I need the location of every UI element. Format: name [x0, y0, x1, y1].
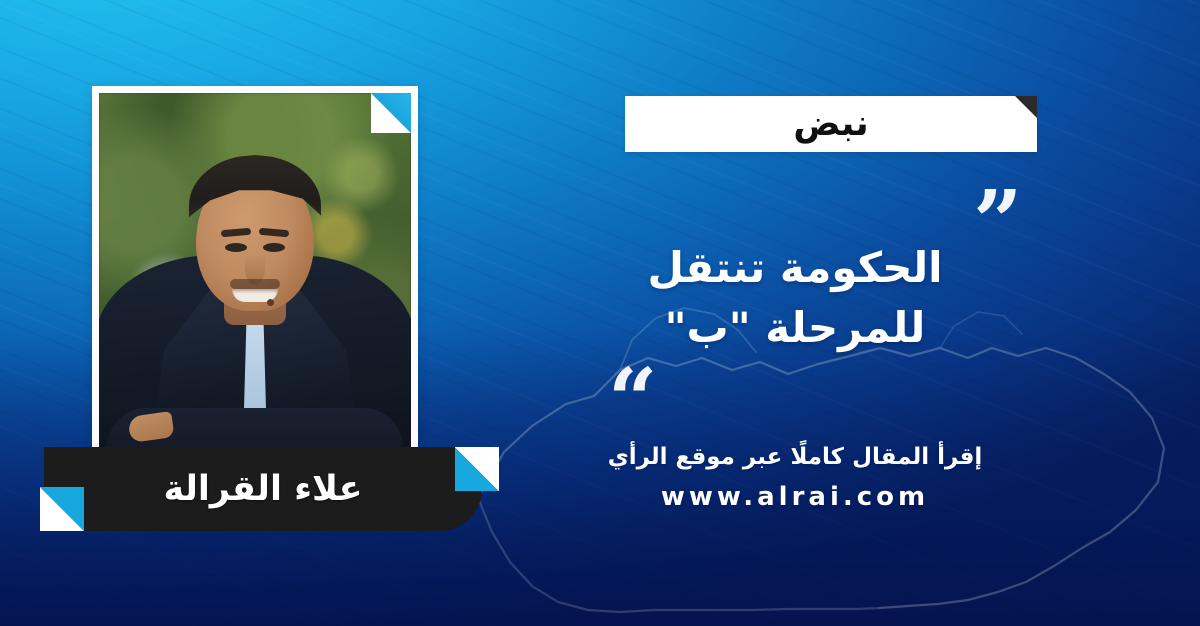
- portrait-mustache: [230, 279, 280, 289]
- plate-accent-top-right-icon: [455, 447, 499, 491]
- portrait-mole: [267, 299, 274, 306]
- cta-text: إقرأ المقال كاملًا عبر موقع الرأي: [560, 440, 1030, 475]
- plate-accent-bottom-left-icon: [40, 487, 84, 531]
- banner-corner-fold-icon: [1015, 96, 1037, 118]
- author-photo-card: [92, 86, 418, 468]
- call-to-action: إقرأ المقال كاملًا عبر موقع الرأي www.al…: [560, 440, 1030, 512]
- headline: الحكومة تنتقل للمرحلة "ب": [560, 238, 1030, 357]
- author-name: علاء القرالة: [163, 469, 362, 509]
- author-name-plate: علاء القرالة: [44, 447, 482, 531]
- portrait-eye-right: [263, 243, 285, 252]
- social-card: علاء القرالة نبض ” “ الحكومة تنتقل للمرح…: [0, 0, 1200, 626]
- portrait-person: [99, 93, 411, 464]
- quote-open-icon: “: [608, 358, 657, 444]
- section-title: نبض: [793, 104, 868, 144]
- headline-line-1: الحكومة تنتقل: [560, 238, 1030, 298]
- headline-line-2: للمرحلة "ب": [560, 298, 1030, 358]
- portrait-eye-left: [225, 243, 247, 252]
- author-portrait: [99, 93, 411, 464]
- cta-url[interactable]: www.alrai.com: [560, 482, 1030, 512]
- section-banner: نبض: [625, 96, 1037, 152]
